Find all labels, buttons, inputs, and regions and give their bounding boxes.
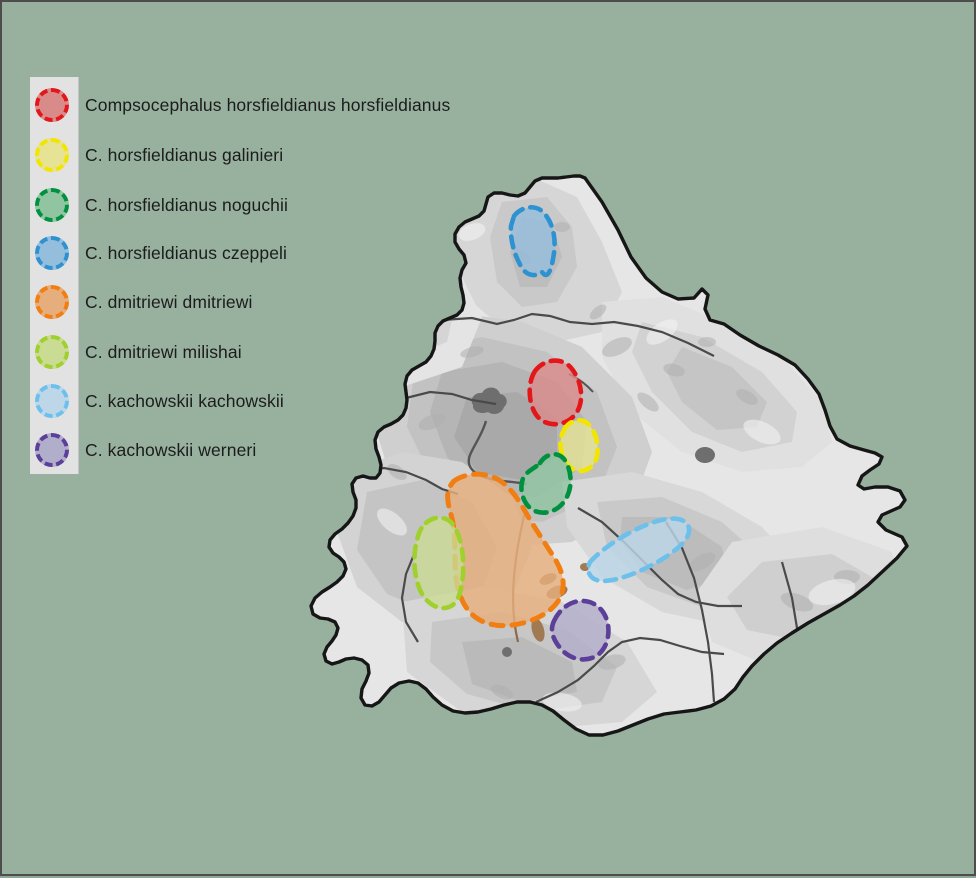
- legend-item-label: Compsocephalus horsfieldianus horsfieldi…: [85, 95, 450, 116]
- dmitriewi-milishai-range: [414, 518, 463, 608]
- legend-item-5[interactable]: C. dmitriewi milishai: [30, 332, 242, 372]
- distribution-map-figure: Compsocephalus horsfieldianus horsfieldi…: [0, 0, 976, 876]
- dashed-circle-icon: [35, 138, 69, 172]
- lake-afar: [695, 447, 715, 463]
- dashed-circle-icon: [35, 433, 69, 467]
- legend-item-3[interactable]: C. horsfieldianus czeppeli: [30, 233, 287, 273]
- legend-item-label: C. horsfieldianus czeppeli: [85, 243, 287, 264]
- legend-item-6[interactable]: C. kachowskii kachowskii: [30, 381, 284, 421]
- dashed-circle-icon: [35, 188, 69, 222]
- legend-item-7[interactable]: C. kachowskii werneri: [30, 430, 256, 470]
- legend-item-label: C. horsfieldianus galinieri: [85, 145, 283, 166]
- legend-item-label: C. dmitriewi dmitriewi: [85, 292, 253, 313]
- horsfieldianus-horsfieldianus-range: [530, 361, 581, 425]
- dashed-circle-icon: [35, 285, 69, 319]
- dashed-circle-icon: [35, 384, 69, 418]
- dashed-circle-icon: [35, 88, 69, 122]
- legend-item-label: C. horsfieldianus noguchii: [85, 195, 288, 216]
- dashed-circle-icon: [35, 236, 69, 270]
- legend-item-1[interactable]: C. horsfieldianus galinieri: [30, 135, 283, 175]
- legend-item-0[interactable]: Compsocephalus horsfieldianus horsfieldi…: [30, 85, 450, 125]
- legend-item-label: C. dmitriewi milishai: [85, 342, 242, 363]
- rift-lake-4: [502, 647, 512, 657]
- legend-item-2[interactable]: C. horsfieldianus noguchii: [30, 185, 288, 225]
- dashed-circle-icon: [35, 335, 69, 369]
- legend-item-4[interactable]: C. dmitriewi dmitriewi: [30, 282, 253, 322]
- terrain-layer: [302, 162, 922, 762]
- legend-item-label: C. kachowskii kachowskii: [85, 391, 284, 412]
- legend-item-label: C. kachowskii werneri: [85, 440, 256, 461]
